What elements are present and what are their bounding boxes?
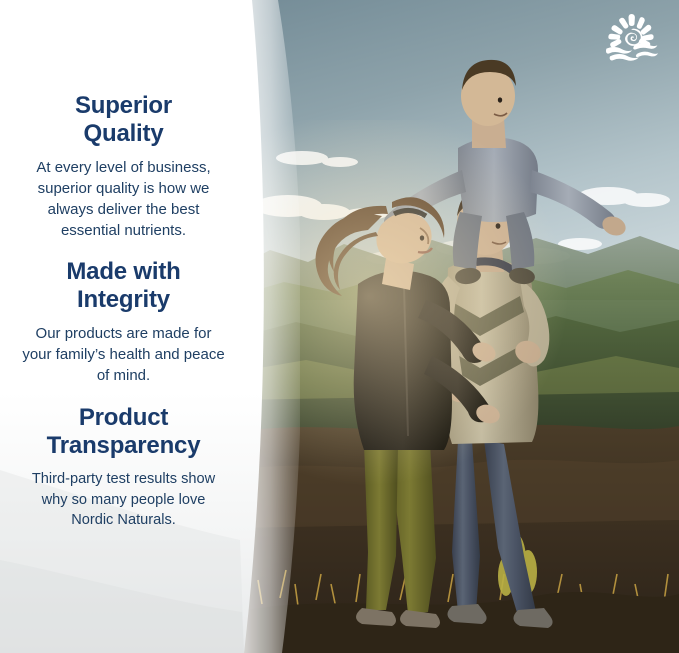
headline-line-2: Quality xyxy=(22,120,225,148)
value-propositions: Superior Quality At every level of busin… xyxy=(0,0,247,653)
headline-line-2: Transparency xyxy=(22,432,225,460)
sun-waves-icon xyxy=(606,14,658,61)
promotional-banner: Superior Quality At every level of busin… xyxy=(0,0,679,653)
headline-line-1: Product xyxy=(22,404,225,432)
headline-line-2: Integrity xyxy=(22,286,225,314)
value-block-made-with-integrity: Made with Integrity Our products are mad… xyxy=(0,258,247,386)
body-product-transparency: Third-party test results show why so man… xyxy=(0,469,247,531)
headline-product-transparency: Product Transparency xyxy=(0,404,247,460)
body-superior-quality: At every level of business, superior qua… xyxy=(0,157,247,241)
nordic-naturals-logo xyxy=(604,12,658,62)
lifestyle-photo xyxy=(236,0,679,653)
headline-line-1: Superior xyxy=(22,92,225,120)
value-block-product-transparency: Product Transparency Third-party test re… xyxy=(0,404,247,531)
headline-superior-quality: Superior Quality xyxy=(0,92,247,148)
body-made-with-integrity: Our products are made for your family’s … xyxy=(0,323,247,386)
headline-made-with-integrity: Made with Integrity xyxy=(0,258,247,314)
value-block-superior-quality: Superior Quality At every level of busin… xyxy=(0,92,247,241)
headline-line-1: Made with xyxy=(22,258,225,286)
